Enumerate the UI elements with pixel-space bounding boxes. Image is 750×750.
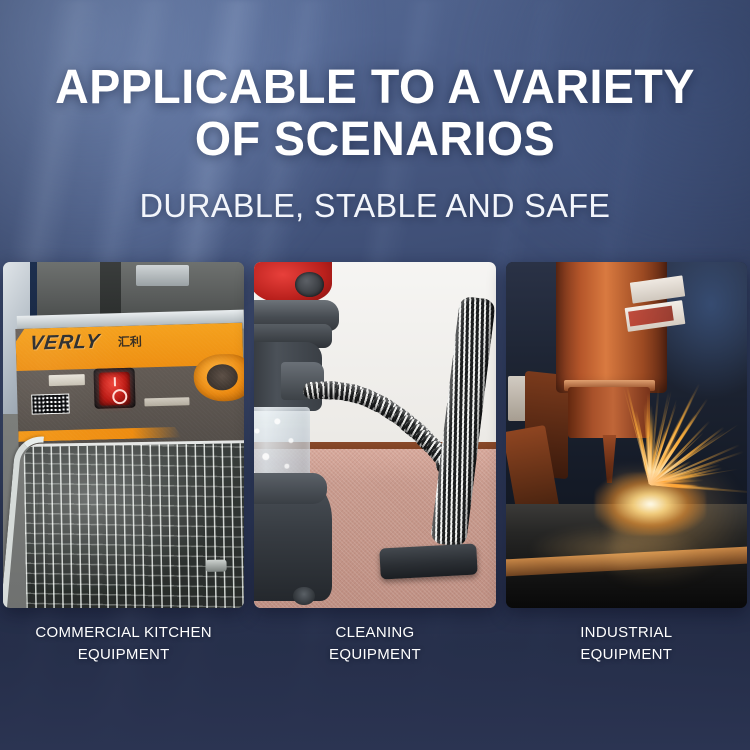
- caption-line-2: EQUIPMENT: [254, 644, 495, 666]
- fryer-top-chrome: [136, 265, 189, 286]
- vacuum-floor-nozzle: [379, 543, 477, 579]
- fryer-spec-label: [145, 398, 191, 407]
- fryer-mesh-basket: [23, 440, 244, 608]
- vacuum-caster-wheel: [293, 587, 315, 604]
- caption-row: COMMERCIAL KITCHEN EQUIPMENT CLEANING EQ…: [3, 622, 747, 692]
- photo-card-row: VERLY 汇利: [3, 262, 747, 608]
- laser-cut-flash: [595, 473, 706, 535]
- fryer-orange-band: [16, 323, 244, 372]
- vacuum-hose: [303, 376, 433, 521]
- caption-line-1: CLEANING: [254, 622, 495, 644]
- photo-card-industrial: [506, 262, 747, 608]
- heading-block: APPLICABLE TO A VARIETY OF SCENARIOS DUR…: [0, 62, 750, 224]
- caption-line-2: EQUIPMENT: [506, 644, 747, 666]
- caption-cleaning: CLEANING EQUIPMENT: [254, 622, 495, 692]
- caption-commercial-kitchen: COMMERCIAL KITCHEN EQUIPMENT: [3, 622, 244, 692]
- caption-industrial: INDUSTRIAL EQUIPMENT: [506, 622, 747, 692]
- promo-poster: APPLICABLE TO A VARIETY OF SCENARIOS DUR…: [0, 0, 750, 750]
- photo-card-commercial-kitchen: VERLY 汇利: [3, 262, 244, 608]
- vacuum-top-cap: [295, 272, 324, 296]
- fryer-warning-label: [49, 375, 86, 387]
- caption-line-1: INDUSTRIAL: [506, 622, 747, 644]
- fryer-basket-clip: [205, 559, 226, 572]
- fryer-control-panel: VERLY 汇利: [16, 323, 245, 447]
- fryer-switch-on-mark: [114, 378, 116, 387]
- vacuum-photo: [254, 262, 495, 608]
- fryer-photo: VERLY 汇利: [3, 262, 244, 608]
- fryer-brand-logo-cn: 汇利: [118, 333, 142, 351]
- qr-code-icon: [31, 394, 70, 415]
- photo-card-cleaning: [254, 262, 495, 608]
- fryer-control-knob[interactable]: [194, 353, 245, 402]
- caption-line-2: EQUIPMENT: [3, 644, 244, 666]
- page-title: APPLICABLE TO A VARIETY OF SCENARIOS: [11, 62, 739, 166]
- fryer-switch-off-mark: [112, 389, 127, 404]
- fryer-wire-mesh: [23, 443, 244, 608]
- fryer-top-seam: [100, 262, 122, 321]
- fryer-power-switch[interactable]: [94, 369, 136, 410]
- caption-line-1: COMMERCIAL KITCHEN: [3, 622, 244, 644]
- fryer-brand-logo: VERLY: [29, 331, 102, 356]
- laser-photo: [506, 262, 747, 608]
- page-subtitle: DURABLE, STABLE AND SAFE: [8, 188, 743, 224]
- fryer-switch-illuminated: [99, 372, 131, 406]
